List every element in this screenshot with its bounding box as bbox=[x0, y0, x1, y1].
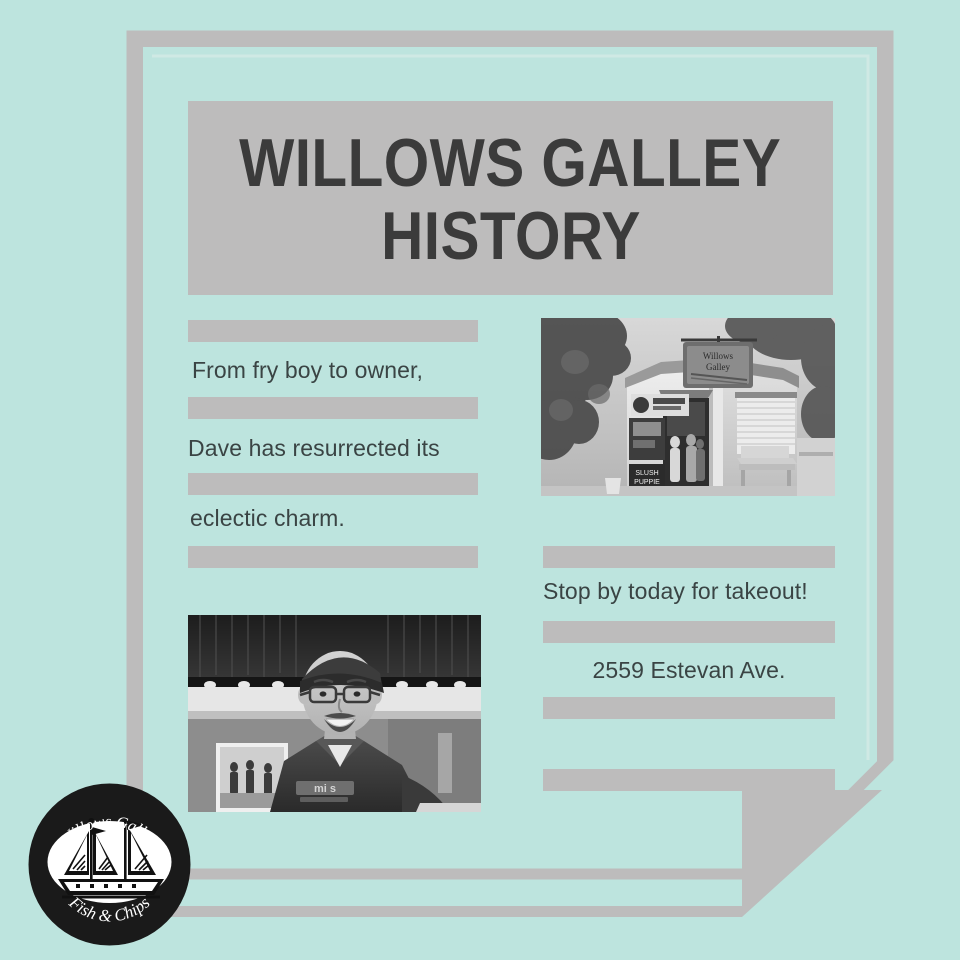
left-bar-2 bbox=[188, 397, 478, 419]
right-bar-2 bbox=[543, 621, 835, 643]
left-copy-line-3: eclectic charm. bbox=[190, 505, 345, 532]
storefront-placard-line-1: SLUSH bbox=[635, 470, 658, 477]
storefront-sign-line-1: Willows bbox=[703, 351, 734, 361]
frame-corner-fold bbox=[742, 790, 882, 917]
frame-top-bar bbox=[132, 36, 888, 47]
left-copy-line-2: Dave has resurrected its bbox=[188, 435, 440, 462]
svg-text:mi s: mi s bbox=[314, 783, 336, 795]
page-title: WILLOWS GALLEY HISTORY bbox=[188, 101, 833, 295]
logo-badge: Willows Galley Fish & Chips bbox=[28, 783, 191, 946]
right-copy-line-1: Stop by today for takeout! bbox=[543, 578, 808, 605]
storefront-placard-line-2: PUPPIE bbox=[634, 479, 660, 486]
storefront-photo: Willows Galley bbox=[541, 318, 835, 496]
left-bar-3 bbox=[188, 473, 478, 495]
right-bar-3 bbox=[543, 697, 835, 719]
left-bar-1 bbox=[188, 320, 478, 342]
frame-bottom-bar bbox=[132, 906, 742, 917]
poster-canvas: WILLOWS GALLEY HISTORY From fry boy to o… bbox=[0, 0, 960, 960]
left-copy-line-1: From fry boy to owner, bbox=[192, 357, 423, 384]
frame-right-bar bbox=[877, 36, 888, 766]
page-title-line-2: HISTORY bbox=[381, 203, 641, 270]
right-bar-1 bbox=[543, 546, 835, 568]
page-title-line-1: WILLOWS GALLEY bbox=[239, 130, 781, 197]
left-bar-4 bbox=[188, 546, 478, 568]
right-copy-line-2: 2559 Estevan Ave. bbox=[543, 657, 835, 684]
owner-portrait-photo: mi s bbox=[188, 615, 481, 812]
right-bar-4 bbox=[543, 769, 835, 791]
storefront-sign-line-2: Galley bbox=[706, 362, 730, 372]
